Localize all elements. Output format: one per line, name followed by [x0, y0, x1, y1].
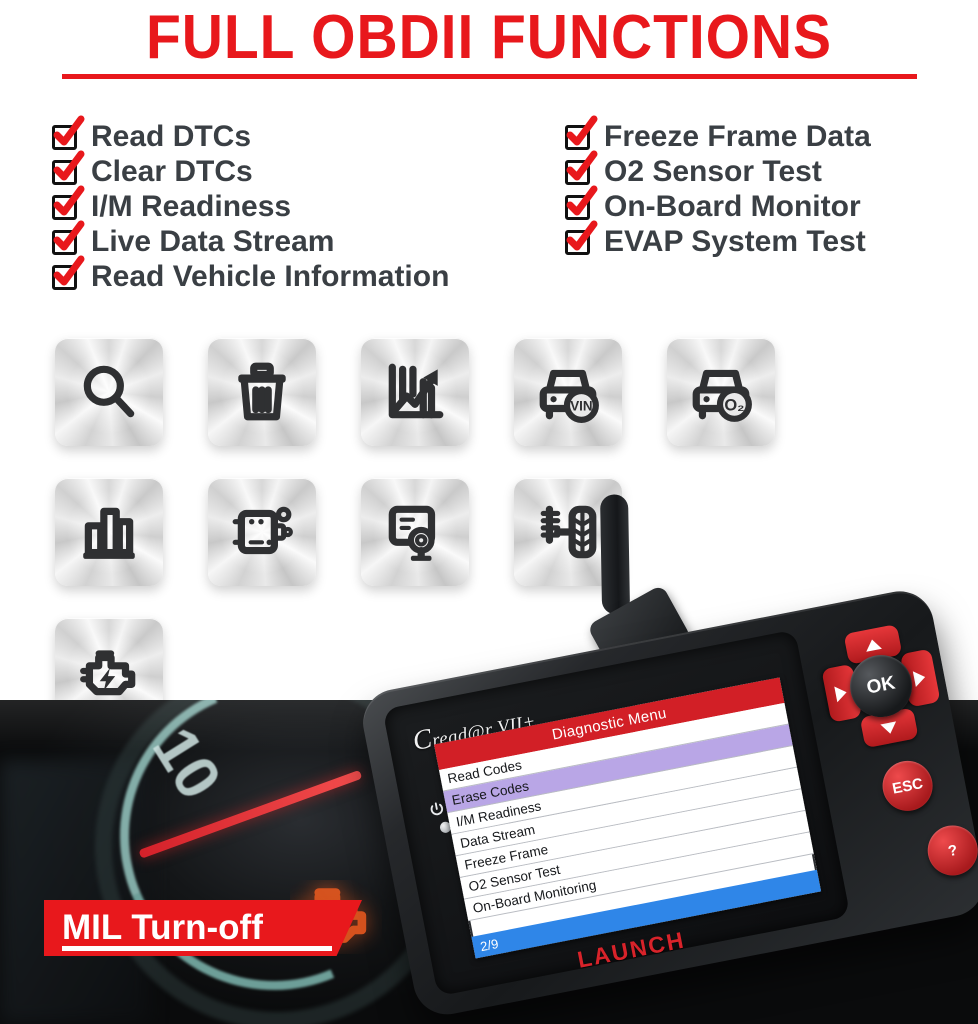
checkbox-checked-icon	[565, 230, 590, 255]
svg-text:VIN: VIN	[570, 399, 592, 414]
line-chart-icon	[382, 359, 448, 425]
evap-tire-icon	[535, 499, 601, 565]
feature-label: I/M Readiness	[91, 190, 291, 224]
list-item: Read DTCs	[52, 120, 572, 155]
tile-read-vehicle-information[interactable]: VIN	[514, 338, 622, 446]
tile-on-board-monitor[interactable]	[208, 478, 316, 586]
photo-blur-left	[0, 760, 150, 1024]
checkbox-checked-icon	[565, 125, 590, 150]
tile-freeze-frame-data[interactable]	[361, 478, 469, 586]
checkbox-checked-icon	[52, 160, 77, 185]
mil-banner-underline	[62, 946, 332, 951]
list-item: O2 Sensor Test	[565, 155, 978, 190]
tile-o2-sensor-test[interactable]: O₂	[667, 338, 775, 446]
ecu-module-icon	[229, 499, 295, 565]
checkbox-checked-icon	[565, 160, 590, 185]
list-item: Clear DTCs	[52, 155, 572, 190]
feature-label: EVAP System Test	[604, 225, 866, 259]
freeze-frame-icon	[382, 499, 448, 565]
feature-list-left: Read DTCs Clear DTCs I/M Readiness Live …	[52, 120, 572, 295]
obd-cable	[600, 494, 630, 614]
trash-icon	[229, 359, 295, 425]
feature-list-right: Freeze Frame Data O2 Sensor Test On-Boar…	[565, 120, 978, 260]
page-title: FULL OBDII FUNCTIONS	[39, 6, 939, 70]
feature-label: Read Vehicle Information	[91, 260, 449, 294]
list-item: On-Board Monitor	[565, 190, 978, 225]
checkbox-checked-icon	[52, 125, 77, 150]
feature-label: Clear DTCs	[91, 155, 253, 189]
feature-label: Live Data Stream	[91, 225, 334, 259]
magnifier-icon	[76, 359, 142, 425]
title-underline-rule	[62, 74, 917, 79]
feature-label: On-Board Monitor	[604, 190, 861, 224]
arrow-right-icon	[913, 669, 927, 687]
check-engine-icon	[76, 639, 142, 705]
list-item: Freeze Frame Data	[565, 120, 978, 155]
list-item: Live Data Stream	[52, 225, 572, 260]
page-title-block: FULL OBDII FUNCTIONS	[0, 6, 978, 70]
checkbox-checked-icon	[565, 195, 590, 220]
list-item: I/M Readiness	[52, 190, 572, 225]
arrow-up-icon	[864, 637, 882, 651]
checkbox-checked-icon	[52, 195, 77, 220]
list-item: EVAP System Test	[565, 225, 978, 260]
tile-im-readiness[interactable]	[55, 478, 163, 586]
car-o2-icon: O₂	[688, 359, 754, 425]
car-vin-icon: VIN	[535, 359, 601, 425]
dpad-control[interactable]: OK	[811, 616, 952, 757]
gauge-needle	[138, 770, 362, 859]
arrow-left-icon	[835, 684, 849, 702]
arrow-down-icon	[880, 721, 898, 735]
tile-live-data-stream[interactable]	[361, 338, 469, 446]
bar-chart-icon	[76, 499, 142, 565]
list-item: Read Vehicle Information	[52, 260, 572, 295]
feature-label: Freeze Frame Data	[604, 120, 871, 154]
mil-turnoff-label: MIL Turn-off	[62, 910, 263, 946]
tile-clear-dtcs[interactable]	[208, 338, 316, 446]
gauge-tick-label: 10	[138, 715, 235, 811]
feature-label: O2 Sensor Test	[604, 155, 822, 189]
svg-text:O₂: O₂	[724, 397, 744, 415]
tile-read-dtcs[interactable]	[55, 338, 163, 446]
feature-label: Read DTCs	[91, 120, 251, 154]
product-feature-poster: FULL OBDII FUNCTIONS Read DTCs Clear DTC…	[0, 0, 978, 1024]
checkbox-checked-icon	[52, 265, 77, 290]
checkbox-checked-icon	[52, 230, 77, 255]
